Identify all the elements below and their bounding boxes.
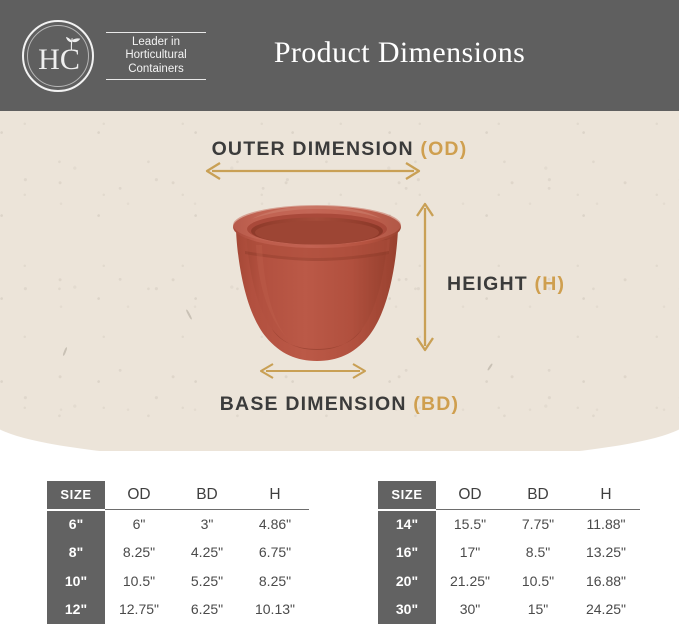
- cell-size: 20": [378, 567, 436, 596]
- terracotta-planter-pot: [222, 199, 412, 369]
- cell-bd: 3": [173, 510, 241, 539]
- outer-dimension-text: OUTER DIMENSION: [212, 138, 414, 160]
- cell-size: 10": [47, 567, 105, 596]
- tagline-divider-top: [106, 32, 206, 33]
- table-header-row: SIZE OD BD H: [378, 481, 640, 510]
- base-dimension-arrow: [258, 362, 368, 380]
- column-header-bd: BD: [504, 481, 572, 510]
- table-row: 6" 6" 3" 4.86": [47, 510, 309, 539]
- column-header-size: SIZE: [47, 481, 105, 510]
- column-header-od: OD: [436, 481, 504, 510]
- cell-size: 16": [378, 538, 436, 567]
- cell-h: 24.25": [572, 595, 640, 624]
- cell-h: 16.88": [572, 567, 640, 596]
- base-dimension-code: (BD): [413, 393, 459, 415]
- column-header-bd: BD: [173, 481, 241, 510]
- cell-od: 8.25": [105, 538, 173, 567]
- cell-od: 6": [105, 510, 173, 539]
- cell-od: 21.25": [436, 567, 504, 596]
- cell-od: 12.75": [105, 595, 173, 624]
- cell-size: 30": [378, 595, 436, 624]
- cell-h: 11.88": [572, 510, 640, 539]
- base-dimension-label: BASE DIMENSION (BD): [0, 393, 679, 416]
- dimension-table-right: SIZE OD BD H 14" 15.5" 7.75" 11.88" 16" …: [378, 481, 640, 624]
- column-header-h: H: [572, 481, 640, 510]
- table-header-row: SIZE OD BD H: [47, 481, 309, 510]
- cell-bd: 5.25": [173, 567, 241, 596]
- cell-size: 12": [47, 595, 105, 624]
- dimension-table-left: SIZE OD BD H 6" 6" 3" 4.86" 8" 8.25" 4.2…: [47, 481, 309, 624]
- table-row: 10" 10.5" 5.25" 8.25": [47, 567, 309, 596]
- dimension-diagram: OUTER DIMENSION (OD): [0, 111, 679, 451]
- height-code: (H): [535, 273, 566, 295]
- cell-size: 14": [378, 510, 436, 539]
- cell-h: 10.13": [241, 595, 309, 624]
- cell-bd: 8.5": [504, 538, 572, 567]
- outer-dimension-code: (OD): [420, 138, 467, 160]
- cell-size: 6": [47, 510, 105, 539]
- cell-bd: 7.75": [504, 510, 572, 539]
- table-row: 14" 15.5" 7.75" 11.88": [378, 510, 640, 539]
- table-row: 16" 17" 8.5" 13.25": [378, 538, 640, 567]
- cell-h: 4.86": [241, 510, 309, 539]
- cell-od: 17": [436, 538, 504, 567]
- column-header-size: SIZE: [378, 481, 436, 510]
- cell-h: 8.25": [241, 567, 309, 596]
- column-header-h: H: [241, 481, 309, 510]
- height-text: HEIGHT: [447, 273, 528, 295]
- cell-od: 15.5": [436, 510, 504, 539]
- height-arrow: [412, 201, 438, 353]
- table-row: 30" 30" 15" 24.25": [378, 595, 640, 624]
- table-row: 8" 8.25" 4.25" 6.75": [47, 538, 309, 567]
- tagline-divider-bottom: [106, 79, 206, 80]
- outer-dimension-label: OUTER DIMENSION (OD): [0, 138, 679, 161]
- page-header: HC Leader in Horticultural Containers Pr…: [0, 0, 679, 111]
- table-row: 12" 12.75" 6.25" 10.13": [47, 595, 309, 624]
- cell-bd: 15": [504, 595, 572, 624]
- cell-od: 30": [436, 595, 504, 624]
- cell-h: 6.75": [241, 538, 309, 567]
- cell-size: 8": [47, 538, 105, 567]
- cell-bd: 10.5": [504, 567, 572, 596]
- table-row: 20" 21.25" 10.5" 16.88": [378, 567, 640, 596]
- cell-od: 10.5": [105, 567, 173, 596]
- base-dimension-text: BASE DIMENSION: [220, 393, 407, 415]
- height-label: HEIGHT (H): [447, 273, 565, 296]
- cell-bd: 6.25": [173, 595, 241, 624]
- outer-dimension-arrow: [204, 161, 422, 181]
- cell-bd: 4.25": [173, 538, 241, 567]
- column-header-od: OD: [105, 481, 173, 510]
- cell-h: 13.25": [572, 538, 640, 567]
- page-title: Product Dimensions: [0, 36, 679, 70]
